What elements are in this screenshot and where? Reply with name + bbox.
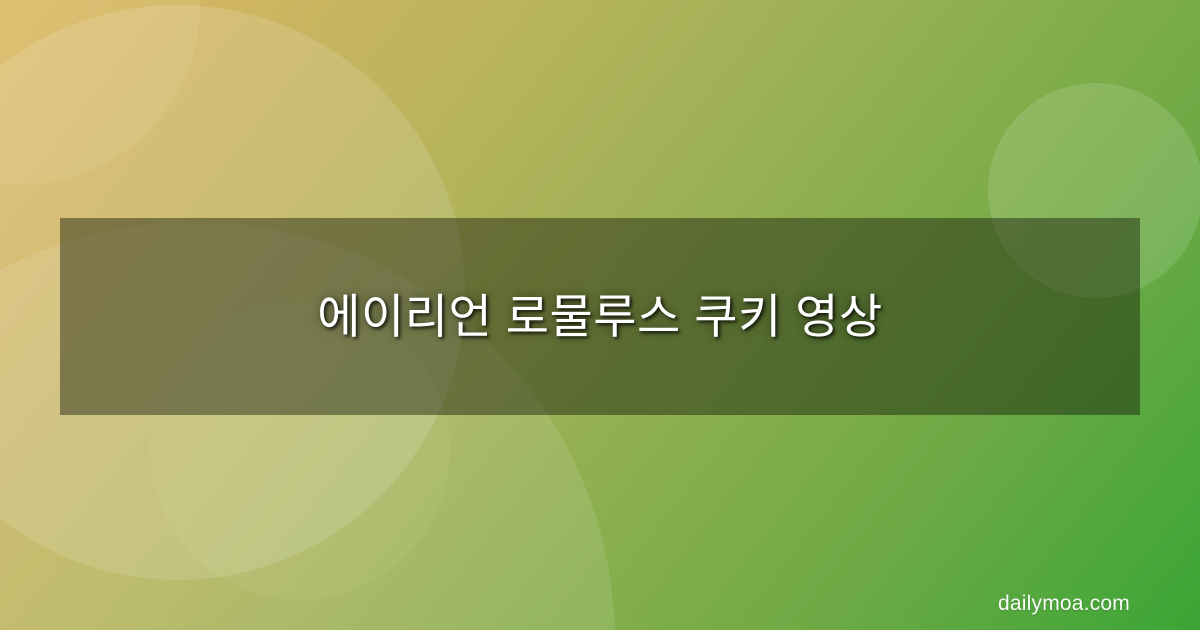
page-title: 에이리언 로물루스 쿠키 영상 [317, 286, 883, 347]
site-watermark: dailymoa.com [998, 592, 1130, 616]
social-share-card: 에이리언 로물루스 쿠키 영상 dailymoa.com [0, 0, 1200, 630]
title-banner: 에이리언 로물루스 쿠키 영상 [60, 218, 1140, 415]
